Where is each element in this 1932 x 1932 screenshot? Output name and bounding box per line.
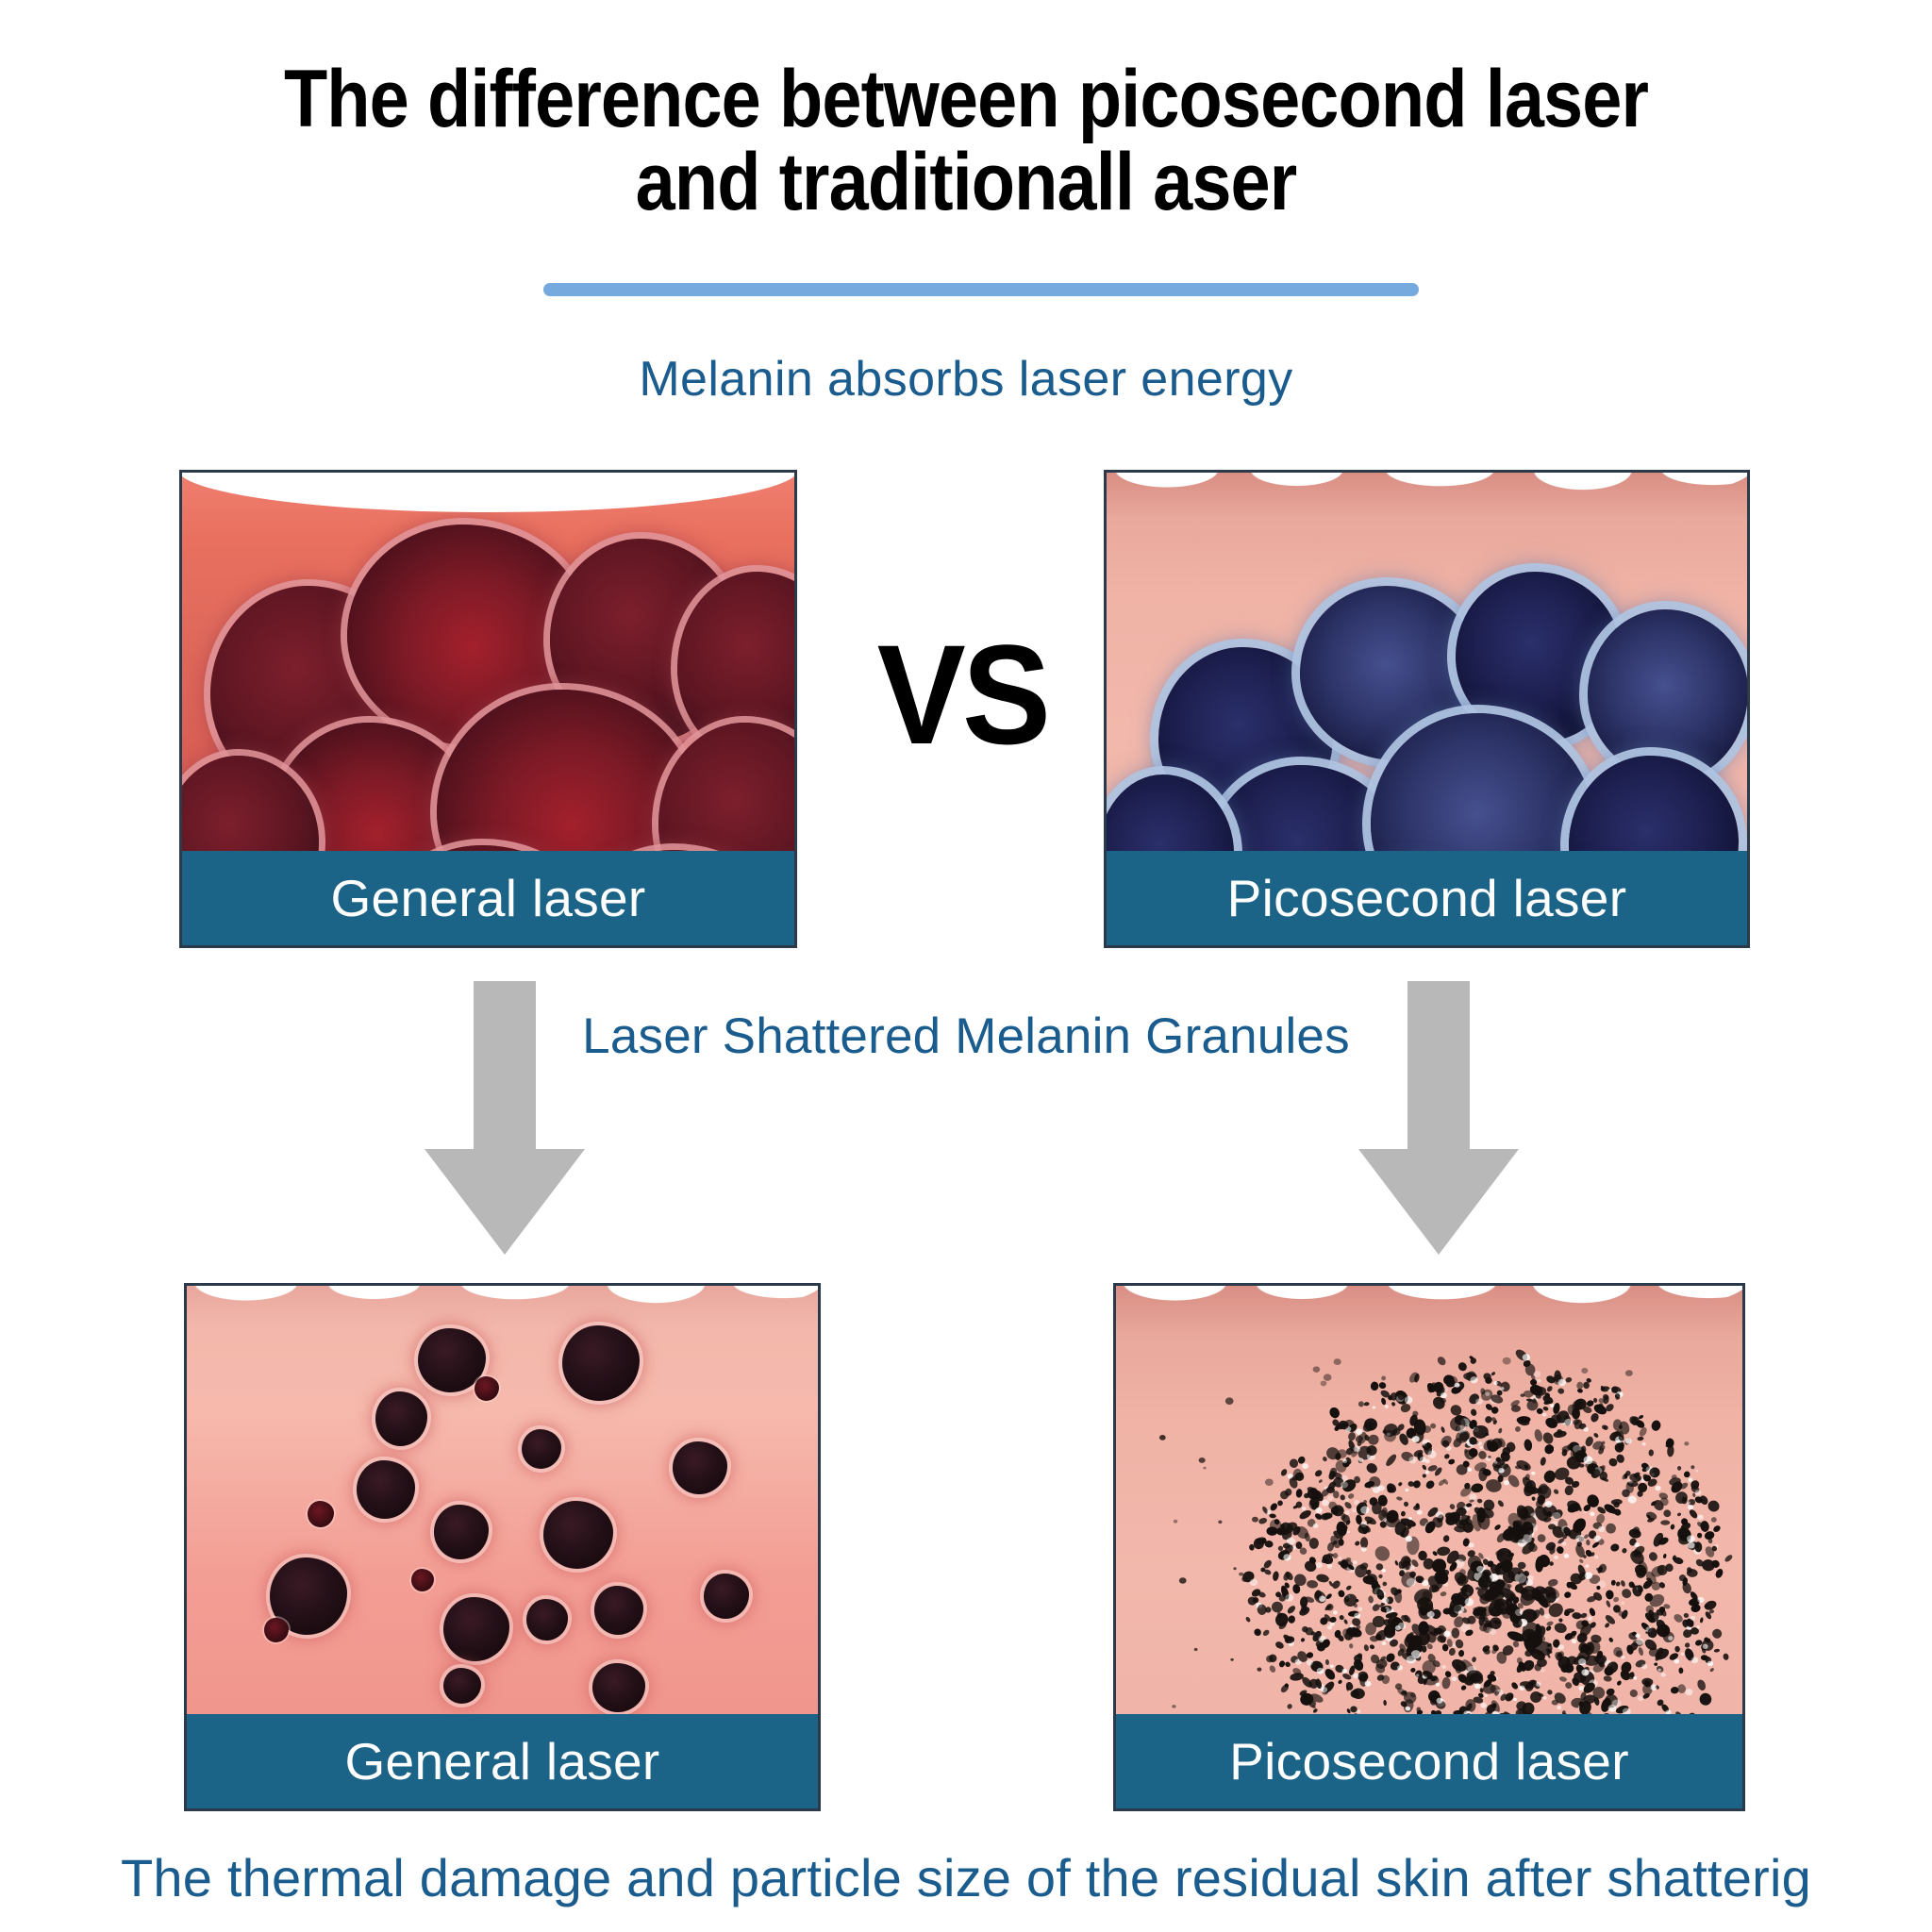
- caption-band-picosecond-laser-bottom: Picosecond laser: [1116, 1714, 1742, 1808]
- caption-band-picosecond-laser-top: Picosecond laser: [1107, 851, 1747, 945]
- caption-text: Picosecond laser: [1227, 868, 1627, 928]
- caption-text: General laser: [344, 1731, 659, 1791]
- panel-picosecond-laser-after: Picosecond laser: [1113, 1283, 1745, 1811]
- skin-surface-edge: [184, 1283, 821, 1325]
- caption-band-general-laser-top: General laser: [182, 851, 794, 945]
- vs-label: VS: [838, 613, 1086, 776]
- skin-surface-edge: [179, 470, 797, 512]
- title-divider: [543, 283, 1419, 296]
- caption-text: Picosecond laser: [1229, 1731, 1629, 1791]
- footer-caption: The thermal damage and particle size of …: [0, 1847, 1932, 1908]
- skin-surface-edge: [1104, 470, 1750, 512]
- panel-picosecond-laser-before: Picosecond laser: [1104, 470, 1750, 948]
- panel-general-laser-before: General laser: [179, 470, 797, 948]
- page-title: The difference between picosecond laser …: [0, 58, 1932, 224]
- middle-label-laser-shattered: Laser Shattered Melanin Granules: [0, 1008, 1932, 1065]
- caption-band-general-laser-bottom: General laser: [187, 1714, 818, 1808]
- subtitle-melanin-absorbs: Melanin absorbs laser energy: [0, 351, 1932, 408]
- caption-text: General laser: [330, 868, 645, 928]
- page-title-line-2: and traditionall aser: [116, 142, 1816, 225]
- page-title-line-1: The difference between picosecond laser: [116, 58, 1816, 142]
- panel-general-laser-after: General laser: [184, 1283, 821, 1811]
